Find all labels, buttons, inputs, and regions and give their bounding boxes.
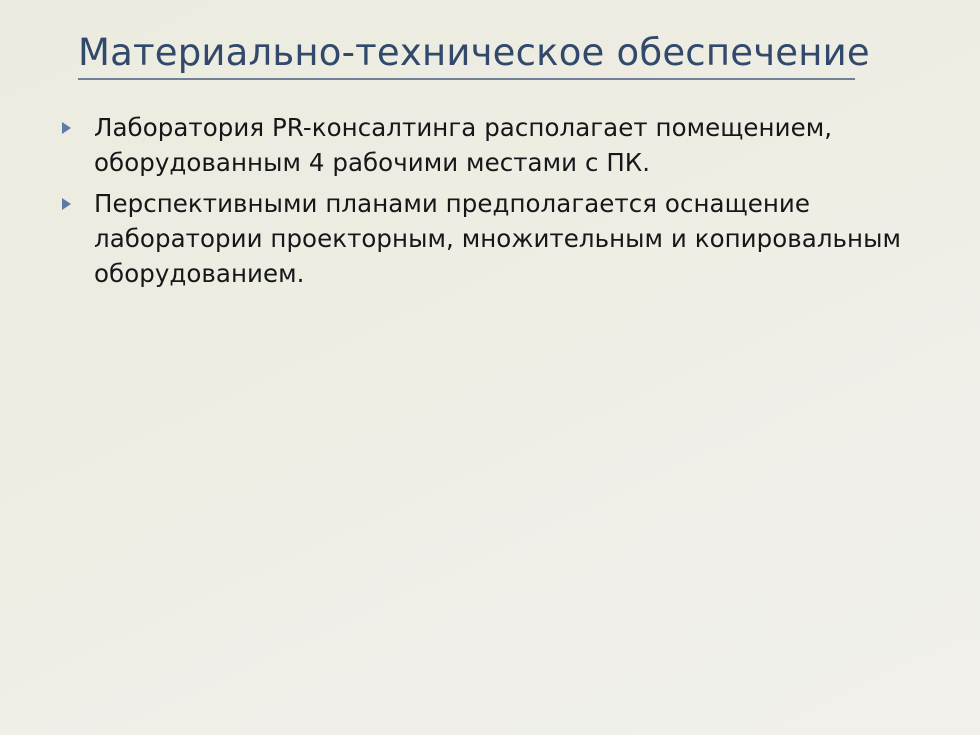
page-title: Материально-техническое обеспечение [78,30,860,76]
triangle-right-icon [62,110,94,134]
triangle-right-icon [62,186,94,210]
slide-title-block: Материально-техническое обеспечение [78,30,860,80]
presentation-slide: Материально-техническое обеспечение Лабо… [0,0,980,735]
list-item-text: Лаборатория PR-консалтинга располагает п… [94,110,942,180]
list-item: Перспективными планами предполагается ос… [62,186,942,291]
title-underline-divider [78,78,855,80]
list-item-text: Перспективными планами предполагается ос… [94,186,942,291]
list-item: Лаборатория PR-консалтинга располагает п… [62,110,942,180]
slide-body-content: Лаборатория PR-консалтинга располагает п… [62,110,942,297]
